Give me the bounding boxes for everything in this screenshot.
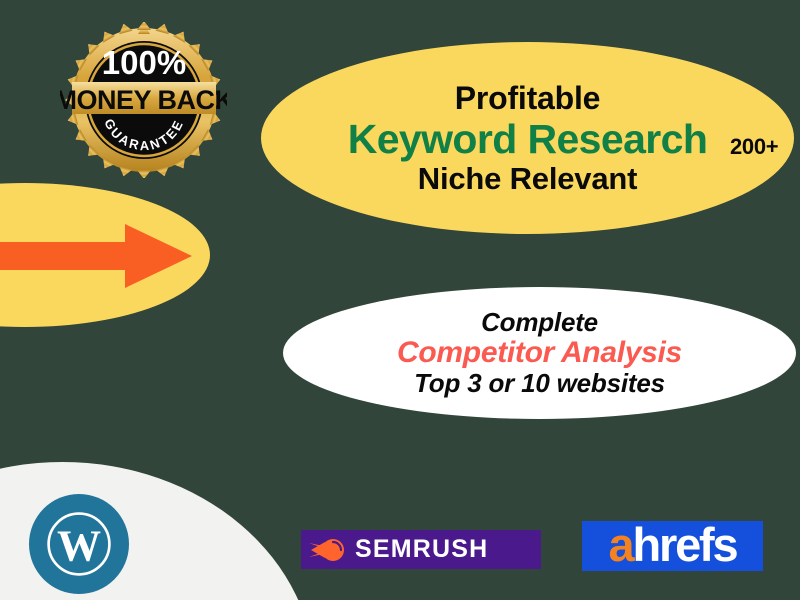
subhead-complete: Complete (481, 309, 598, 337)
subhead-competitor-analysis: Competitor Analysis (397, 336, 682, 370)
ahrefs-logo: ahrefs (582, 521, 763, 571)
money-back-guarantee-badge: 100% MONEY BACK GUARANTEE (60, 22, 227, 178)
headline-profitable: Profitable (455, 82, 601, 116)
ahrefs-rest-letters: hrefs (633, 521, 737, 571)
right-arrow-icon (0, 216, 200, 296)
wordpress-mark-icon: W (41, 506, 117, 582)
keyword-count-badge: 200+ (730, 134, 778, 160)
svg-text:W: W (57, 522, 101, 571)
headline-keyword-research: Keyword Research (348, 118, 708, 161)
headline-niche-relevant: Niche Relevant (418, 163, 637, 196)
semrush-logo: SEMRUSH (301, 530, 541, 569)
ahrefs-first-letter: a (609, 521, 633, 571)
badge-percent-text: 100% (102, 44, 186, 81)
poster-canvas: W (0, 0, 800, 600)
ahrefs-wordmark: ahrefs (609, 521, 737, 568)
keyword-research-ellipse: Profitable Keyword Research Niche Releva… (261, 42, 794, 234)
subhead-top-websites: Top 3 or 10 websites (414, 370, 665, 398)
semrush-wordmark: SEMRUSH (355, 535, 488, 564)
competitor-analysis-ellipse: Complete Competitor Analysis Top 3 or 10… (283, 287, 796, 419)
semrush-comet-icon (309, 537, 349, 563)
wordpress-logo: W (29, 494, 129, 594)
badge-banner-text: MONEY BACK (60, 85, 227, 115)
